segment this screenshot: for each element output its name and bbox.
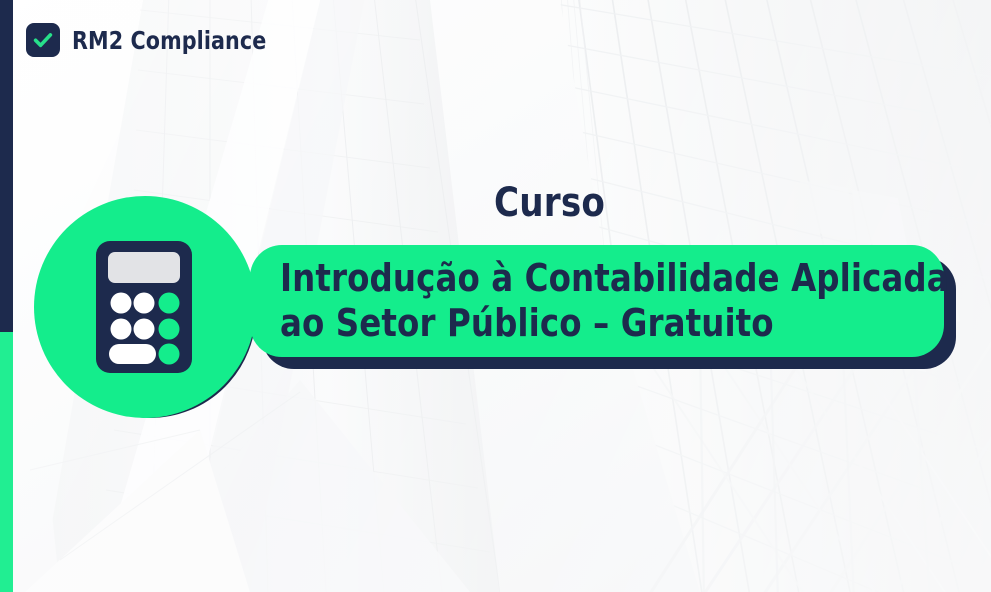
edge-stripe-navy-segment: [0, 0, 13, 332]
brand-logo[interactable]: RM2 Compliance: [26, 23, 283, 57]
title-banner: Introdução à Contabilidade Aplicada ao S…: [250, 245, 944, 357]
left-edge-stripe: [0, 0, 13, 592]
course-title-line-2: ao Setor Público – Gratuito: [280, 301, 882, 346]
calculator-badge: [31, 196, 267, 422]
checkmark-icon: [26, 23, 60, 57]
course-kicker: Curso: [494, 183, 605, 223]
calculator-icon: [96, 241, 192, 373]
edge-stripe-green-segment: [0, 332, 13, 592]
course-title-line-1: Introdução à Contabilidade Aplicada: [280, 256, 882, 301]
slide-canvas: RM2 Compliance Curso Introdução à Contab…: [0, 0, 991, 592]
brand-name: RM2 Compliance: [72, 28, 266, 53]
